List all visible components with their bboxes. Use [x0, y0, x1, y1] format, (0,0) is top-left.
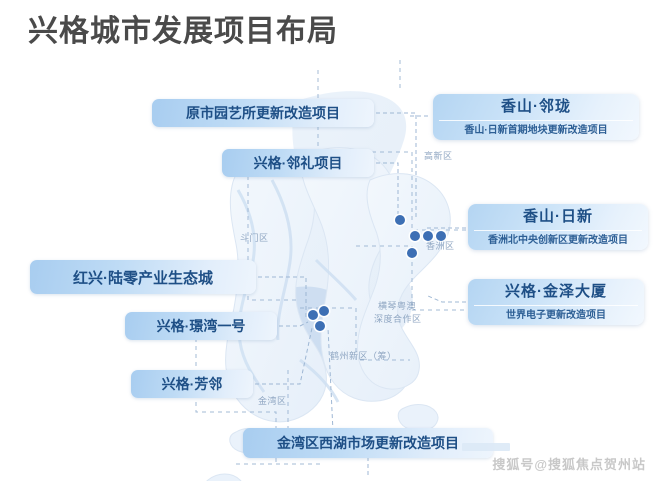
- project-card-xiangshan-rixin[interactable]: 香山·日新 香洲北中央创新区更新改造项目: [468, 204, 648, 250]
- watermark-text: 搜狐号@搜狐焦点贺州站: [492, 454, 646, 473]
- project-pill-yuanshi-yuanyisuo[interactable]: 原市园艺所更新改造项目: [152, 99, 374, 127]
- project-pill-xingge-fanglin[interactable]: 兴格·芳邻: [131, 370, 253, 398]
- project-pill-label: 兴格·璟湾一号: [143, 316, 260, 336]
- district-label: 高新区: [424, 150, 453, 162]
- project-pill-label: 金湾区西湖市场更新改造项目: [263, 433, 473, 453]
- project-card-title: 香山·日新: [468, 204, 648, 230]
- project-pill-label: 兴格·邻礼项目: [240, 153, 357, 173]
- district-label: 香洲区: [426, 240, 455, 252]
- project-pill-xingge-lingli[interactable]: 兴格·邻礼项目: [222, 149, 374, 177]
- project-card-subtitle: 香山·日新首期地块更新改造项目: [433, 121, 639, 140]
- district-label: 斗门区: [240, 232, 269, 244]
- district-label: 金湾区: [258, 395, 287, 407]
- district-label: 深度合作区: [374, 313, 422, 325]
- project-card-title: 兴格·金泽大厦: [468, 279, 644, 305]
- project-pill-label: 兴格·芳邻: [148, 374, 237, 394]
- project-card-xiangshan-linglong[interactable]: 香山·邻珑 香山·日新首期地块更新改造项目: [433, 94, 639, 140]
- district-label: 鹤州新区（筹）: [330, 350, 397, 362]
- project-pill-xingge-jingwan[interactable]: 兴格·璟湾一号: [125, 312, 277, 340]
- project-card-subtitle: 香洲北中央创新区更新改造项目: [468, 231, 648, 250]
- project-card-xingge-jinze[interactable]: 兴格·金泽大厦 世界电子更新改造项目: [468, 279, 644, 325]
- project-pill-label: 红兴·陆零产业生态城: [59, 267, 227, 288]
- page-title: 兴格城市发展项目布局: [28, 12, 338, 52]
- poster-root: 兴格城市发展项目布局: [0, 0, 660, 481]
- project-card-subtitle: 世界电子更新改造项目: [468, 306, 644, 325]
- project-card-title: 香山·邻珑: [433, 94, 639, 120]
- project-pill-hongxing-luling[interactable]: 红兴·陆零产业生态城: [30, 260, 256, 294]
- project-pill-jinwanqu-xihu[interactable]: 金湾区西湖市场更新改造项目: [243, 428, 493, 458]
- district-label: 横琴粤澳: [378, 300, 416, 312]
- project-pill-label: 原市园艺所更新改造项目: [172, 103, 354, 123]
- watermark-chip: [462, 443, 510, 451]
